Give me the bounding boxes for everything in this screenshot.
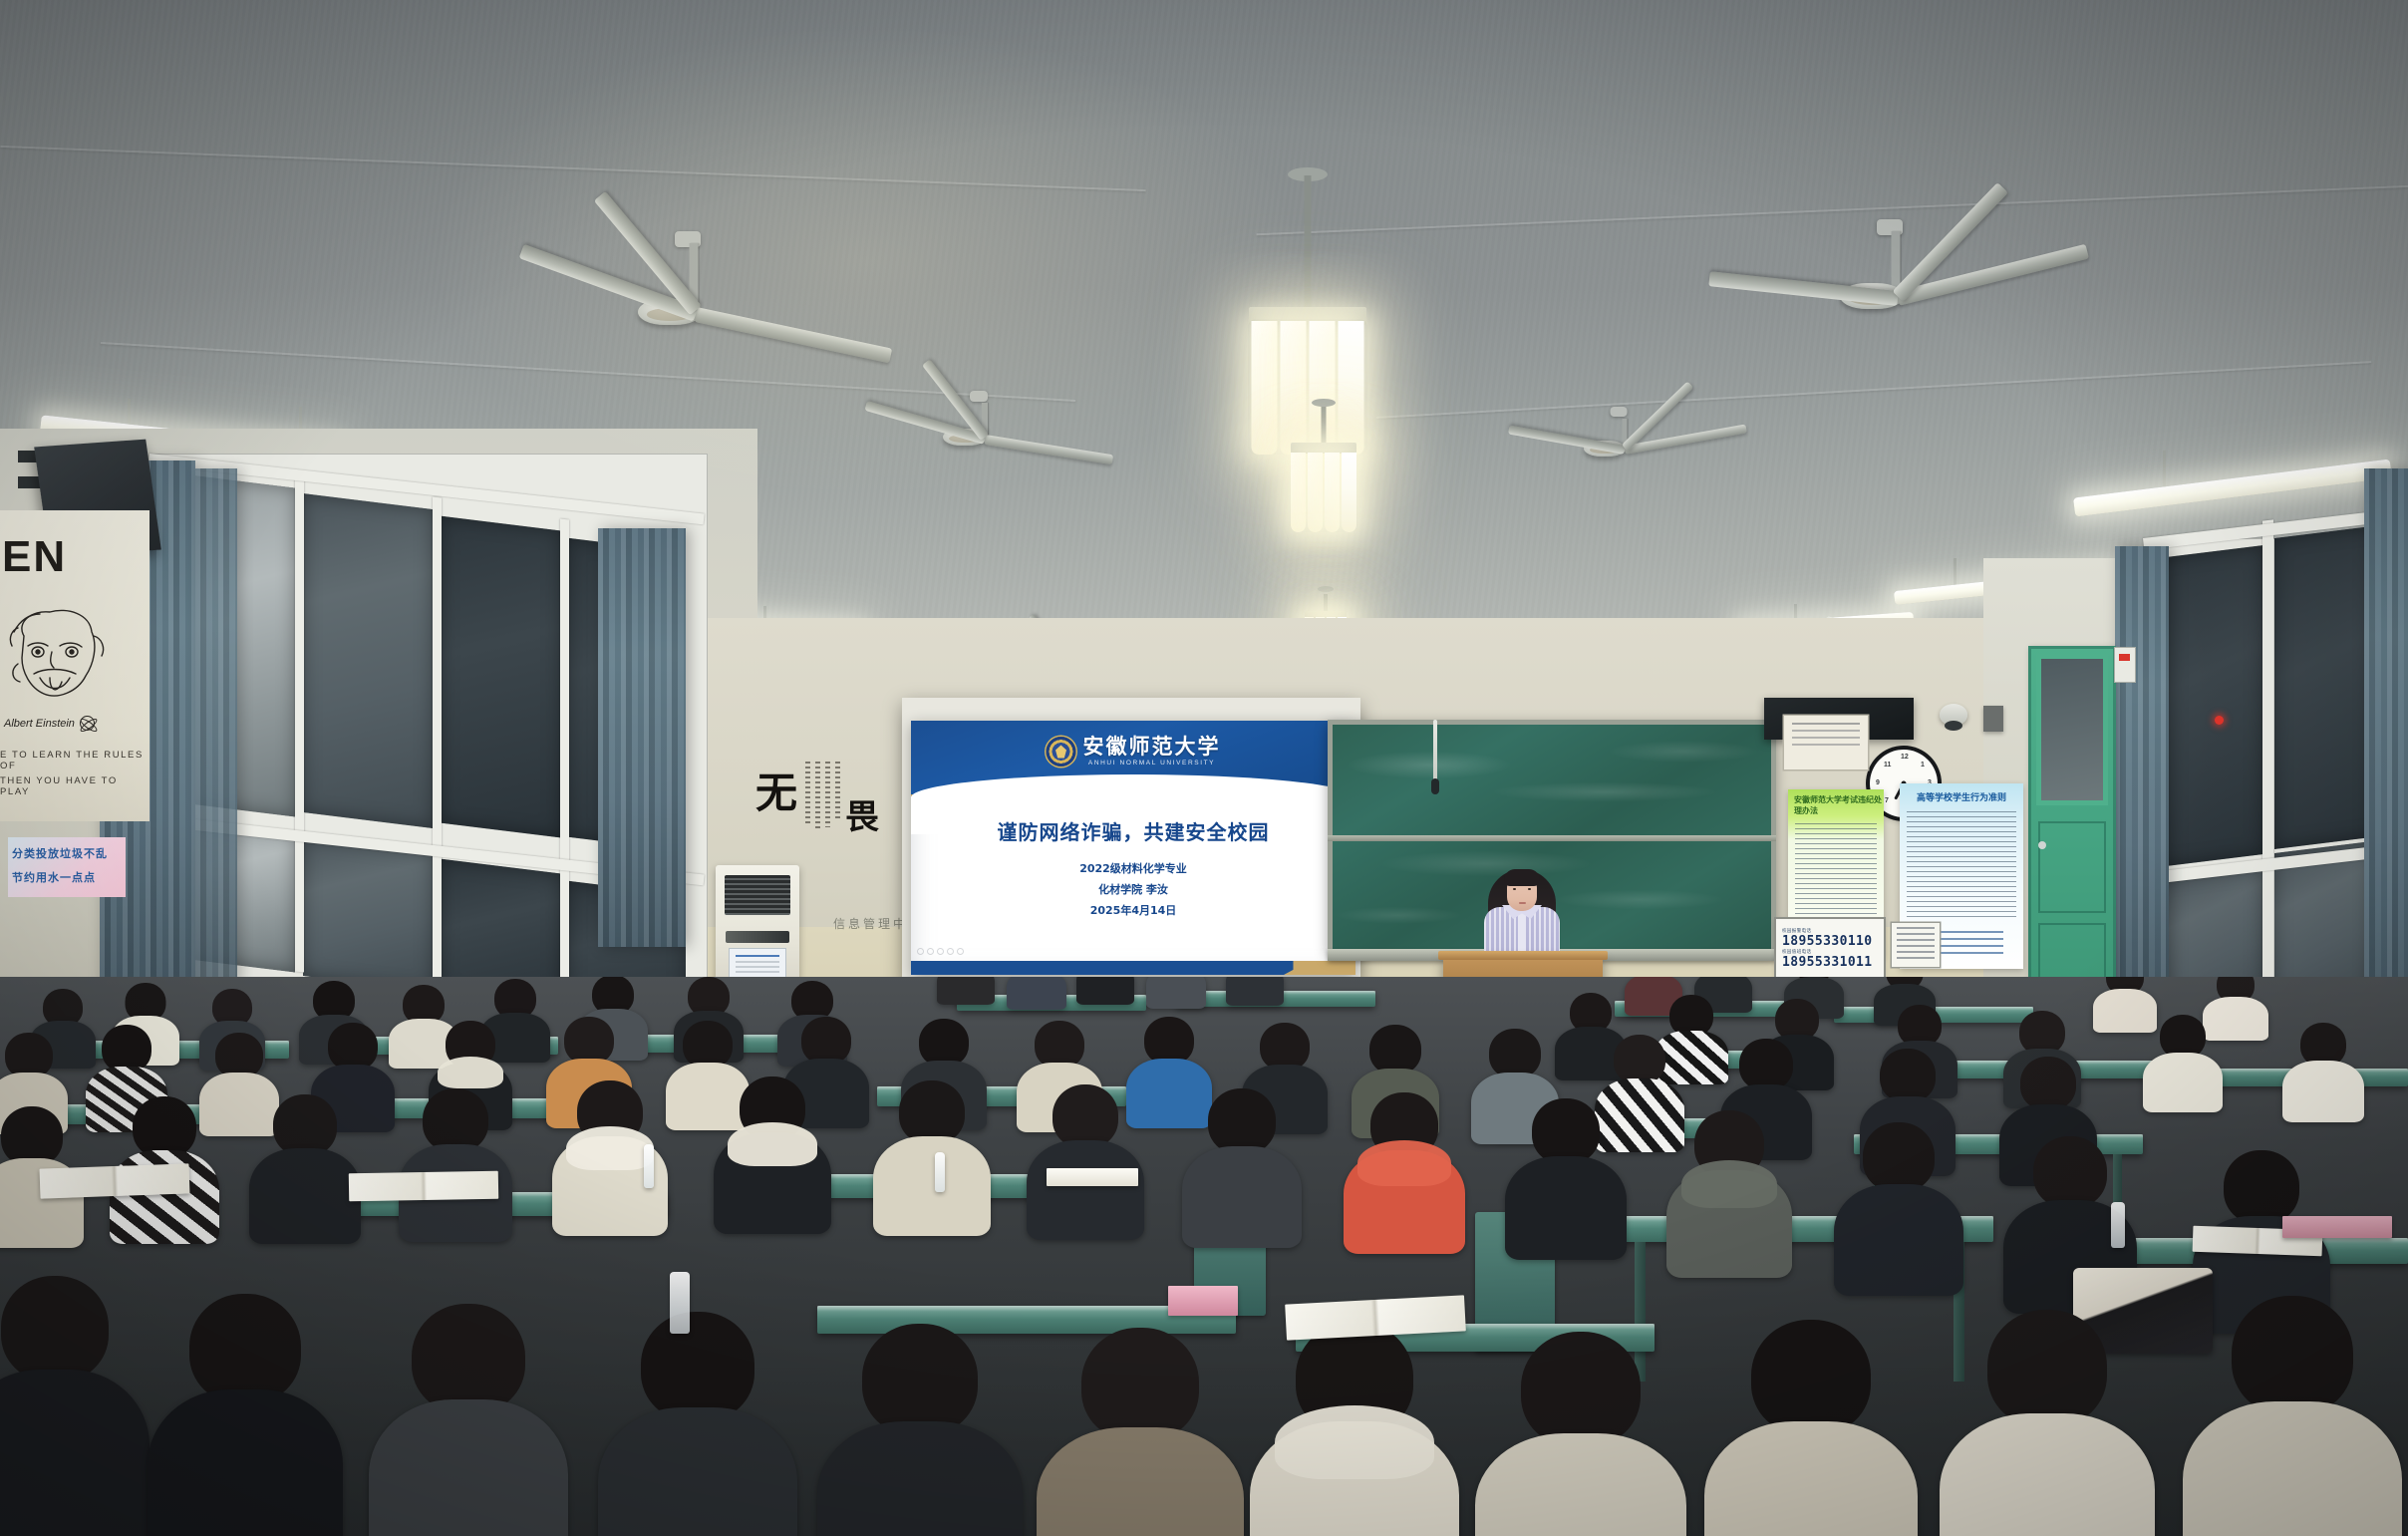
poster-author-name: Albert Einstein [4,716,95,731]
poster-quote-line1: E TO LEARN THE RULES OF [0,750,150,771]
security-camera [1940,704,1967,726]
calligraphy-char-wu: 无 [755,760,797,820]
wall-notice-sign: 分类投放垃圾不乱 节约用水一点点 [8,837,126,897]
notice-line-2: 节约用水一点点 [8,861,126,885]
student-audience [0,977,2408,1536]
student [873,1080,991,1232]
secondary-wall-sign [1892,923,1940,967]
slide-subtitle-line-3: 2025年4月14日 [911,901,1355,922]
slide-body: 谨防网络诈骗，共建安全校园 2022级材料化学专业 化材学院 李汝 2025年4… [911,816,1355,922]
slide-footer-band [911,961,1355,975]
door-glass-pane [2036,654,2108,805]
slide-subtitle-line-1: 2022级材料化学专业 [911,859,1355,880]
phone-number-2: 18955331011 [1782,956,1878,969]
slide-title: 谨防网络诈骗，共建安全校园 [911,816,1355,845]
ceiling-fan [518,231,877,341]
chalkboard-divider-rail [1328,835,1776,841]
student [1250,1322,1459,1536]
student [1007,977,1066,1003]
blue-poster-title: 高等学校学生行为准则 [1900,790,2023,803]
einstein-name-text: Albert Einstein [4,718,75,730]
pendant-light [1264,399,1383,598]
student [2282,1023,2364,1116]
curtain-left [195,468,237,987]
student [249,1094,361,1238]
student [369,1304,568,1536]
student [1027,1084,1144,1236]
water-bottle [644,1144,654,1188]
emergency-phone-sign: 校园报警电话 18955330110 校园值班电话 18955331011 [1776,919,1884,977]
open-textbook [349,1171,498,1202]
blue-poster-text-lines [1907,811,2016,921]
ceiling-fan [857,391,1116,470]
phone-caption-1: 校园报警电话 [1782,928,1878,934]
ceiling-fan [1495,407,1754,486]
student [2183,1296,2402,1536]
presenter-eye [1528,888,1531,890]
student [937,977,995,1001]
atom-icon [80,716,95,731]
einstein-poster: EN [0,510,150,821]
student [2143,1015,2223,1106]
curtain-mid [598,528,686,947]
notice-line-1: 分类投放垃圾不乱 [8,837,126,861]
notebook [1047,1168,1138,1186]
curtain-right [2115,546,2169,1005]
student [1834,1122,1963,1292]
hanging-microphone [1433,720,1437,781]
pink-book [2282,1216,2392,1238]
university-name-en: ANHUI NORMAL UNIVERSITY [1088,760,1215,767]
air-conditioner-unit [716,865,799,995]
small-paper-notice [1784,716,1868,769]
student [1704,1320,1918,1536]
light-hanger [1954,558,1956,586]
student [1666,1110,1792,1274]
phone-caption-2: 校园值班电话 [1782,949,1878,955]
window-red-dot [2215,716,2224,725]
university-logo: 安徽师范大学 ANHUI NORMAL UNIVERSITY [1047,737,1221,767]
student [1146,977,1206,1001]
student [714,1076,831,1230]
poster-big-letters: EN [2,532,67,582]
einstein-portrait-sketch [6,602,116,706]
student [148,1294,343,1536]
phone-number-1: 18955330110 [1782,935,1878,948]
presenter-eye [1513,888,1516,890]
student [399,1088,512,1236]
ac-display-panel [726,931,789,943]
student [1226,977,1284,999]
student [598,1312,797,1536]
student [1505,1098,1627,1256]
ac-vent-grille [725,875,790,915]
ceiling-fan [1694,219,2073,329]
projection-screen[interactable]: 安徽师范大学 ANHUI NORMAL UNIVERSITY 谨防网络诈骗，共建… [911,721,1355,975]
calligraphy-char-wei: 畏 [845,789,879,838]
presenter-fringe [1504,869,1540,886]
student [1037,1328,1244,1536]
student [1076,977,1134,999]
student [1475,1332,1686,1536]
university-name-cn: 安徽师范大学 [1083,737,1221,758]
water-bottle [935,1152,945,1192]
university-seal-icon [1047,737,1076,767]
door-knob[interactable] [2038,841,2046,849]
pink-item [1168,1286,1238,1316]
presenter-mouth [1519,902,1526,904]
open-textbook [40,1163,190,1198]
door-panel [2038,821,2106,913]
slide-subtitle: 2022级材料化学专业 化材学院 李汝 2025年4月14日 [911,859,1355,922]
classroom-door[interactable] [2028,646,2116,1023]
curtain-right [2364,468,2408,1027]
water-bottle [670,1272,690,1334]
wall-calligraphy: 无 畏 [746,738,885,859]
classroom-photo-scene: EN [0,0,2408,1536]
switch-indicator [2119,654,2130,661]
slide-watermark-icons [917,948,964,955]
student [1344,1092,1465,1250]
student [1940,1310,2155,1536]
student [0,1276,150,1536]
water-bottle [2111,1202,2125,1248]
green-poster-title: 安徽师范大学考试违纪处理办法 [1794,794,1884,816]
poster-quote-line2: THEN YOU HAVE TO PLAY [0,775,150,797]
student [1182,1088,1302,1242]
light-hanger [2163,451,2166,490]
slide-subtitle-line-2: 化材学院 李汝 [911,880,1355,901]
camera-bracket [1983,706,2003,732]
student [817,1324,1023,1536]
